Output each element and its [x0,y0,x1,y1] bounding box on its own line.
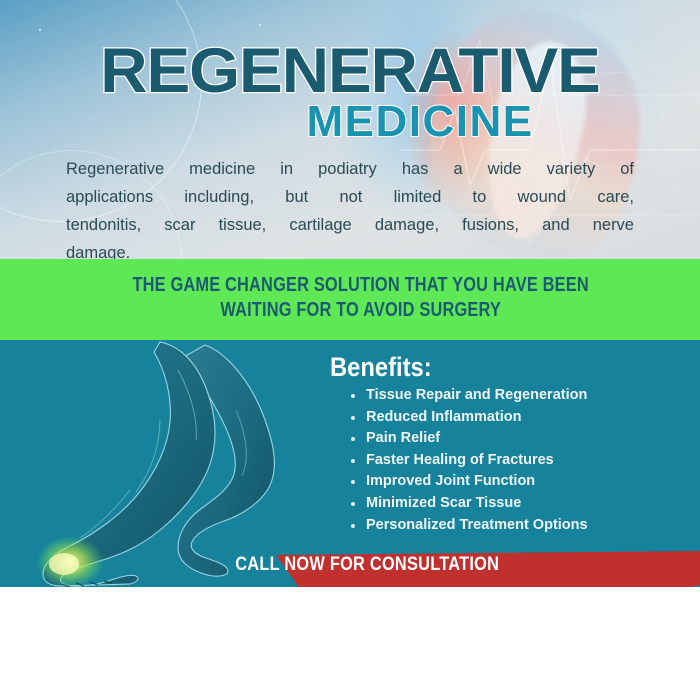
page-subtitle: MEDICINE [0,100,700,144]
tagline-line-1: THE GAME CHANGER SOLUTION THAT YOU HAVE … [84,273,637,298]
header-section: REGENERATIVE MEDICINE Regenerative medic… [0,0,700,259]
intro-line-2: applications including, but not limited … [66,183,634,211]
benefits-heading: Benefits: [330,352,432,382]
intro-paragraph: Regenerative medicine in podiatry has a … [66,155,634,259]
footer-section: FEET 'N BEYOND OF NEW JERSEY, P.A. DEDIC… [0,587,700,700]
tagline-text: THE GAME CHANGER SOLUTION THAT YOU HAVE … [63,273,637,323]
page-title: REGENERATIVE [0,41,700,101]
benefit-item: Faster Healing of Fractures [364,450,694,472]
cta-label[interactable]: CALL NOW FOR CONSULTATION [49,554,651,576]
benefits-list: Tissue Repair and Regeneration Reduced I… [344,385,694,536]
tagline-banner: THE GAME CHANGER SOLUTION THAT YOU HAVE … [0,259,700,340]
benefit-item: Minimized Scar Tissue [364,493,694,515]
intro-line-1: Regenerative medicine in podiatry has a … [66,155,634,183]
intro-line-4: damage. [66,239,634,259]
poster: REGENERATIVE MEDICINE Regenerative medic… [0,0,700,700]
benefit-item: Improved Joint Function [364,471,694,493]
tagline-line-2: WAITING FOR TO AVOID SURGERY [84,298,637,323]
benefit-item: Tissue Repair and Regeneration [364,385,694,407]
benefit-item: Reduced Inflammation [364,407,694,429]
intro-line-3: tendonitis, scar tissue, cartilage damag… [66,211,634,239]
benefit-item: Personalized Treatment Options [364,515,694,537]
benefit-item: Pain Relief [364,428,694,450]
